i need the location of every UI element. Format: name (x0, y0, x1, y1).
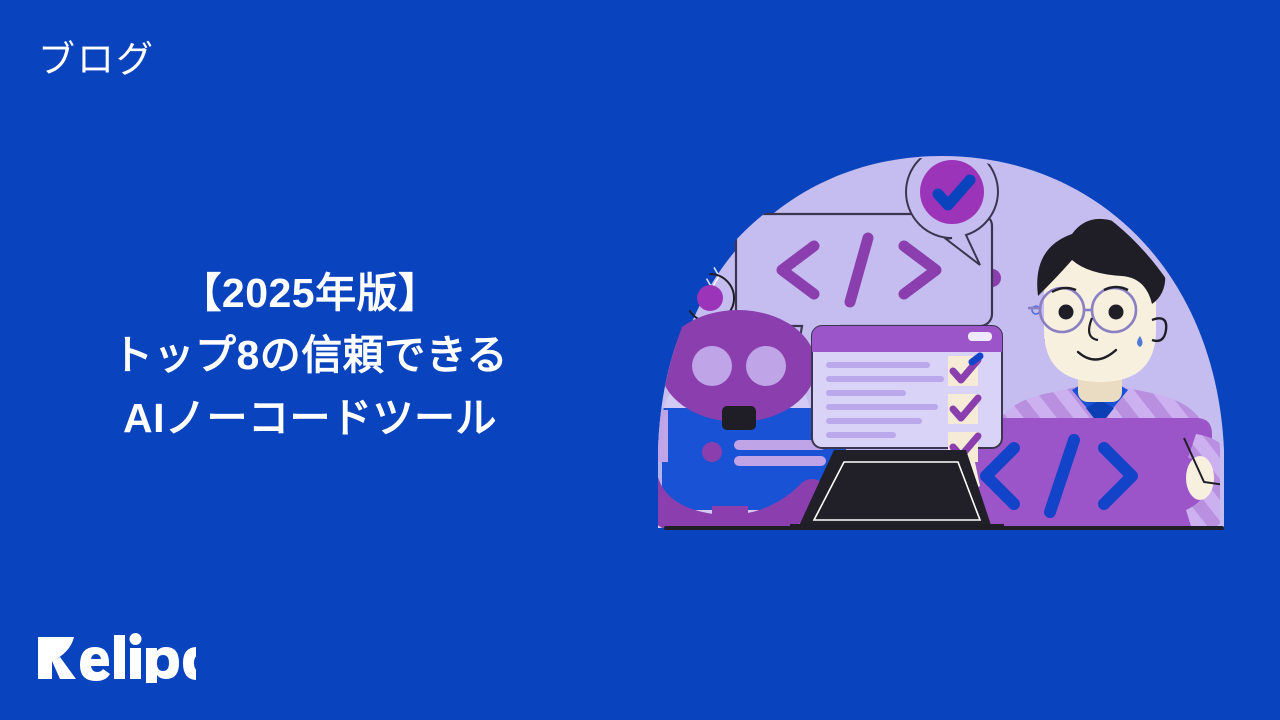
person-right-arm (1184, 434, 1236, 536)
sparkles (680, 229, 719, 288)
relipa-wordmark (38, 633, 196, 683)
page-title: 【2025年版】 トップ8の信頼できる AIノーコードツール (0, 262, 620, 449)
brand-logo[interactable] (36, 630, 196, 686)
ground-line (664, 526, 1224, 530)
headline-line-3: AIノーコードツール (0, 387, 620, 449)
checklist-items (948, 356, 980, 462)
blog-thumbnail-slide: ブログ 【2025年版】 トップ8の信頼できる AIノーコードツール (0, 0, 1280, 720)
hero-illustration (600, 150, 1260, 570)
headline-line-2: トップ8の信頼できる (0, 324, 620, 386)
code-card (968, 418, 1212, 534)
checklist-window (812, 326, 1002, 462)
category-label: ブログ (38, 38, 155, 82)
headline-line-1: 【2025年版】 (0, 262, 620, 324)
